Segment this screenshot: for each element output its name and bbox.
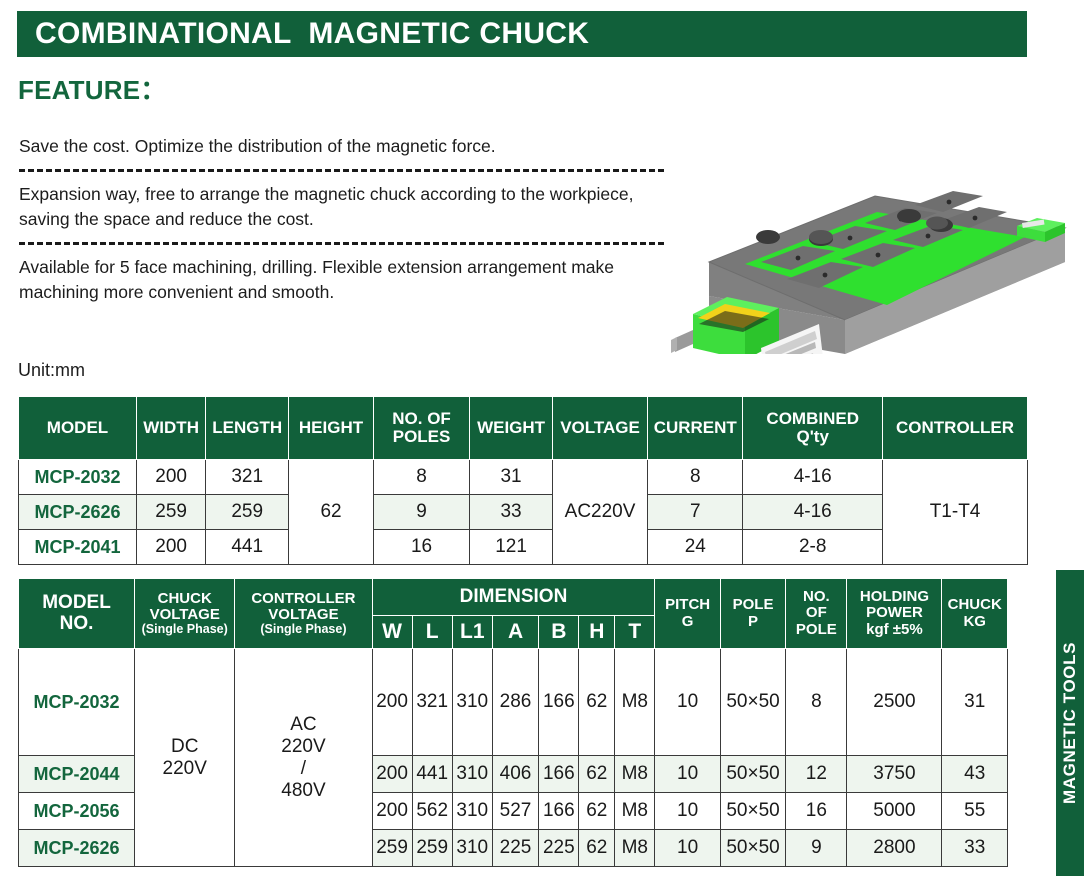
controller-voltage-line2: 220V xyxy=(235,736,371,758)
cell-model: MCP-2626 xyxy=(19,830,135,867)
th2-dim-l1: L1 xyxy=(452,616,492,649)
cell-l1: 310 xyxy=(452,793,492,830)
th2-chuck-voltage: CHUCK VOLTAGE (Single Phase) xyxy=(135,579,235,649)
th2-dim-l: L xyxy=(412,616,452,649)
th2-chuck-kg: CHUCK KG xyxy=(942,579,1008,649)
cell-weight: 31 xyxy=(470,460,553,495)
th-no-of-poles: NO. OF POLES xyxy=(373,397,469,460)
cell-kg: 55 xyxy=(942,793,1008,830)
cell-length: 321 xyxy=(206,460,289,495)
cell-pitch: 10 xyxy=(655,649,720,756)
controller-voltage-line1: AC xyxy=(235,714,371,736)
th2-no-of-pole: NO. OF POLE xyxy=(786,579,847,649)
cell-a: 225 xyxy=(492,830,538,867)
cell-no-pole: 16 xyxy=(786,793,847,830)
th-no-of-poles-line2: POLES xyxy=(374,428,469,446)
cell-kg: 33 xyxy=(942,830,1008,867)
th2-dim-t: T xyxy=(615,616,655,649)
cell-pole: 50×50 xyxy=(720,756,785,793)
th-model: MODEL xyxy=(19,397,137,460)
cell-t: M8 xyxy=(615,830,655,867)
table-row: MCP-2626 259 259 9 33 7 4-16 xyxy=(19,495,1028,530)
cell-current: 8 xyxy=(648,460,743,495)
cell-t: M8 xyxy=(615,756,655,793)
th2-model-line2: NO. xyxy=(19,614,134,635)
th2-controller-voltage-line2: VOLTAGE xyxy=(235,607,371,623)
th2-controller-voltage: CONTROLLER VOLTAGE (Single Phase) xyxy=(235,579,372,649)
feature-divider-2 xyxy=(19,242,664,245)
cell-b: 166 xyxy=(539,649,579,756)
cell-b: 166 xyxy=(539,756,579,793)
th2-no-of-pole-line1: NO. xyxy=(786,589,846,605)
cell-holding: 3750 xyxy=(847,756,942,793)
th2-holding-line1: HOLDING xyxy=(847,589,941,605)
feature-list: Save the cost. Optimize the distribution… xyxy=(19,132,664,309)
cell-pitch: 10 xyxy=(655,756,720,793)
product-photo xyxy=(665,92,1075,354)
cell-l: 562 xyxy=(412,793,452,830)
cell-kg: 31 xyxy=(942,649,1008,756)
cell-t: M8 xyxy=(615,649,655,756)
th2-pole-line1: POLE xyxy=(721,597,785,613)
cell-w: 259 xyxy=(372,830,412,867)
th2-chuck-kg-line2: KG xyxy=(942,614,1007,630)
cell-combined: 2-8 xyxy=(743,530,883,565)
cell-model: MCP-2041 xyxy=(19,530,137,565)
cell-width: 200 xyxy=(136,530,205,565)
cell-poles: 9 xyxy=(373,495,469,530)
th-combined-line2: Q'ty xyxy=(743,428,882,446)
cell-w: 200 xyxy=(372,793,412,830)
cell-pole: 50×50 xyxy=(720,830,785,867)
th2-dim-b: B xyxy=(539,616,579,649)
th-height: HEIGHT xyxy=(289,397,374,460)
th2-pitch-line2: G xyxy=(655,614,719,630)
side-tab-label: MAGNETIC TOOLS xyxy=(1060,642,1080,804)
cell-chuck-voltage-merged: DC 220V xyxy=(135,649,235,867)
cell-length: 441 xyxy=(206,530,289,565)
chuck-voltage-line2: 220V xyxy=(135,758,234,780)
cell-h: 62 xyxy=(579,830,615,867)
cell-model: MCP-2626 xyxy=(19,495,137,530)
table-row: MCP-2032 200 321 62 8 31 AC220V 8 4-16 T… xyxy=(19,460,1028,495)
cell-w: 200 xyxy=(372,649,412,756)
th-controller: CONTROLLER xyxy=(883,397,1028,460)
cell-holding: 5000 xyxy=(847,793,942,830)
cell-l1: 310 xyxy=(452,756,492,793)
th2-pitch: PITCH G xyxy=(655,579,720,649)
th-combined-line1: COMBINED xyxy=(743,410,882,428)
cell-controller-merged: T1-T4 xyxy=(883,460,1028,565)
cell-weight: 33 xyxy=(470,495,553,530)
th-width: WIDTH xyxy=(136,397,205,460)
feature-item-2: Expansion way, free to arrange the magne… xyxy=(19,180,664,236)
th2-holding-power: HOLDING POWER kgf ±5% xyxy=(847,579,942,649)
control-box xyxy=(671,297,779,354)
page-header-bar: COMBINATIONAL MAGNETIC CHUCK xyxy=(17,11,1027,57)
chuck-voltage-line1: DC xyxy=(135,736,234,758)
th2-pole-line2: P xyxy=(721,614,785,630)
cell-pole: 50×50 xyxy=(720,793,785,830)
cell-a: 406 xyxy=(492,756,538,793)
controller-voltage-line3: / xyxy=(235,758,371,780)
magnetic-chuck-illustration xyxy=(665,92,1075,354)
cell-no-pole: 9 xyxy=(786,830,847,867)
th2-holding-line2: POWER xyxy=(847,605,941,621)
table1-header-row: MODEL WIDTH LENGTH HEIGHT NO. OF POLES W… xyxy=(19,397,1028,460)
specification-table-1: MODEL WIDTH LENGTH HEIGHT NO. OF POLES W… xyxy=(18,396,1028,565)
cell-b: 166 xyxy=(539,793,579,830)
cell-b: 225 xyxy=(539,830,579,867)
cell-l: 441 xyxy=(412,756,452,793)
cell-l: 259 xyxy=(412,830,452,867)
th2-no-of-pole-line2: OF xyxy=(786,605,846,621)
cell-kg: 43 xyxy=(942,756,1008,793)
th2-holding-line3: kgf ±5% xyxy=(847,622,941,638)
cell-poles: 16 xyxy=(373,530,469,565)
cell-width: 259 xyxy=(136,495,205,530)
th2-controller-voltage-line3: (Single Phase) xyxy=(235,623,371,637)
cell-pitch: 10 xyxy=(655,830,720,867)
table-row: MCP-2041 200 441 16 121 24 2-8 xyxy=(19,530,1028,565)
th2-dim-w: W xyxy=(372,616,412,649)
cell-controller-voltage-merged: AC 220V / 480V xyxy=(235,649,372,867)
th-current: CURRENT xyxy=(648,397,743,460)
table2-header-row-1: MODEL NO. CHUCK VOLTAGE (Single Phase) C… xyxy=(19,579,1008,616)
th-combined-qty: COMBINED Q'ty xyxy=(743,397,883,460)
cell-l: 321 xyxy=(412,649,452,756)
table-row: MCP-2032 DC 220V AC 220V / 480V 200 321 … xyxy=(19,649,1008,756)
page-title: COMBINATIONAL MAGNETIC CHUCK xyxy=(17,17,589,51)
cell-model: MCP-2056 xyxy=(19,793,135,830)
cell-l1: 310 xyxy=(452,649,492,756)
cell-pole: 50×50 xyxy=(720,649,785,756)
th2-chuck-voltage-line2: VOLTAGE xyxy=(135,607,234,623)
cell-model: MCP-2032 xyxy=(19,460,137,495)
feature-heading: FEATURE： xyxy=(18,70,166,107)
th2-no-of-pole-line3: POLE xyxy=(786,622,846,638)
th-length: LENGTH xyxy=(206,397,289,460)
cell-current: 24 xyxy=(648,530,743,565)
th2-pitch-line1: PITCH xyxy=(655,597,719,613)
cell-l1: 310 xyxy=(452,830,492,867)
th2-chuck-voltage-line3: (Single Phase) xyxy=(135,623,234,637)
cell-w: 200 xyxy=(372,756,412,793)
cell-t: M8 xyxy=(615,793,655,830)
cell-pitch: 10 xyxy=(655,793,720,830)
cell-model: MCP-2044 xyxy=(19,756,135,793)
cell-h: 62 xyxy=(579,756,615,793)
cell-height-merged: 62 xyxy=(289,460,374,565)
th2-dim-a: A xyxy=(492,616,538,649)
th2-pole: POLE P xyxy=(720,579,785,649)
cell-holding: 2800 xyxy=(847,830,942,867)
cell-voltage-merged: AC220V xyxy=(552,460,647,565)
th2-chuck-voltage-line1: CHUCK xyxy=(135,591,234,607)
cell-model: MCP-2032 xyxy=(19,649,135,756)
specification-table-2: MODEL NO. CHUCK VOLTAGE (Single Phase) C… xyxy=(18,578,1008,867)
cell-poles: 8 xyxy=(373,460,469,495)
cell-no-pole: 8 xyxy=(786,649,847,756)
th2-model-line1: MODEL xyxy=(19,593,134,614)
side-tab-magnetic-tools[interactable]: MAGNETIC TOOLS xyxy=(1056,570,1084,876)
cell-h: 62 xyxy=(579,793,615,830)
cell-combined: 4-16 xyxy=(743,495,883,530)
th-no-of-poles-line1: NO. OF xyxy=(374,410,469,428)
unit-label: Unit:mm xyxy=(18,360,85,381)
th-voltage: VOLTAGE xyxy=(552,397,647,460)
cell-a: 286 xyxy=(492,649,538,756)
cell-current: 7 xyxy=(648,495,743,530)
cell-holding: 2500 xyxy=(847,649,942,756)
cell-h: 62 xyxy=(579,649,615,756)
cell-no-pole: 12 xyxy=(786,756,847,793)
feature-item-1: Save the cost. Optimize the distribution… xyxy=(19,132,664,163)
th-weight: WEIGHT xyxy=(470,397,553,460)
cell-combined: 4-16 xyxy=(743,460,883,495)
th2-dimension: DIMENSION xyxy=(372,579,655,616)
controller-voltage-line4: 480V xyxy=(235,780,371,802)
feature-item-3: Available for 5 face machining, drilling… xyxy=(19,253,664,309)
cell-width: 200 xyxy=(136,460,205,495)
cell-length: 259 xyxy=(206,495,289,530)
cell-a: 527 xyxy=(492,793,538,830)
feature-divider-1 xyxy=(19,169,664,172)
th2-model-no: MODEL NO. xyxy=(19,579,135,649)
th2-dim-h: H xyxy=(579,616,615,649)
cell-weight: 121 xyxy=(470,530,553,565)
th2-controller-voltage-line1: CONTROLLER xyxy=(235,591,371,607)
th2-chuck-kg-line1: CHUCK xyxy=(942,597,1007,613)
